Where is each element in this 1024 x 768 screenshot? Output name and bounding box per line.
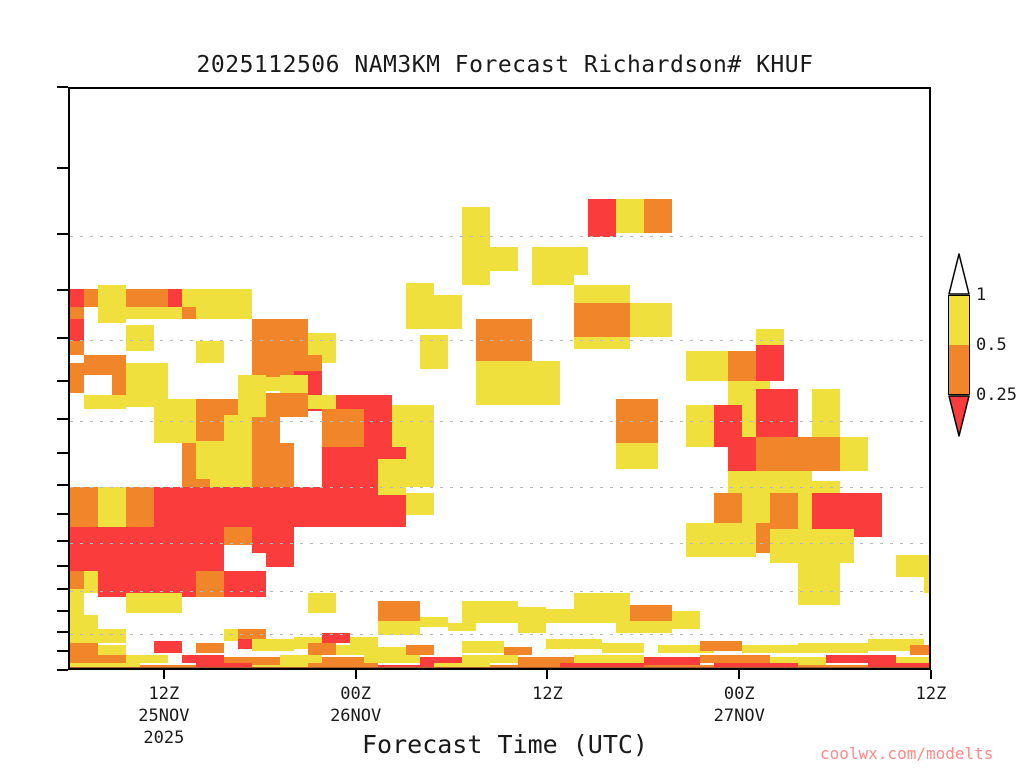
x-tick-label: 00Z27NOV — [714, 683, 765, 727]
y-tick-mark — [57, 631, 68, 633]
x-tick-label: 12Z — [916, 683, 947, 705]
x-tick-mark — [738, 670, 740, 679]
y-tick-mark — [57, 610, 68, 612]
x-tick-label: 12Z — [532, 683, 563, 705]
x-tick-time: 12Z — [916, 683, 947, 705]
y-tick-mark — [57, 233, 68, 235]
y-tick-mark — [57, 167, 68, 169]
x-tick-time: 12Z — [532, 683, 563, 705]
y-tick-mark — [57, 540, 68, 542]
y-tick-mark — [57, 452, 68, 454]
colorbar-over-arrow — [948, 253, 970, 295]
x-tick-label: 00Z26NOV — [330, 683, 381, 727]
colorbar-tick-label: 0.5 — [976, 335, 1007, 355]
y-tick-mark — [57, 565, 68, 567]
terrain-band — [70, 89, 929, 668]
chart-title: 2025112506 NAM3KM Forecast Richardson# K… — [0, 52, 1010, 78]
watermark: coolwx.com/modelts — [820, 744, 993, 763]
x-tick-mark — [546, 670, 548, 679]
y-tick-mark — [57, 669, 68, 671]
y-tick-mark — [57, 418, 68, 420]
colorbar-segment — [948, 345, 970, 395]
x-tick-date: 27NOV — [714, 705, 765, 727]
x-tick-date: 25NOV — [138, 705, 189, 727]
y-tick-mark — [57, 650, 68, 652]
colorbar-under-arrow — [948, 395, 970, 437]
y-tick-mark — [57, 513, 68, 515]
x-tick-mark — [355, 670, 357, 679]
plot-area — [68, 87, 931, 670]
y-tick-mark — [57, 588, 68, 590]
y-tick-mark — [57, 484, 68, 486]
x-tick-time: 12Z — [138, 683, 189, 705]
colorbar-tick-label: 1 — [976, 285, 986, 305]
y-tick-mark — [57, 380, 68, 382]
x-tick-time: 00Z — [714, 683, 765, 705]
terrain-fill — [70, 667, 929, 670]
colorbar-tick-label: 0.25 — [976, 385, 1017, 405]
colorbar-body — [948, 295, 970, 395]
y-tick-mark — [57, 86, 68, 88]
y-tick-mark — [57, 289, 68, 291]
x-tick-mark — [163, 670, 165, 679]
chart-canvas: 2025112506 NAM3KM Forecast Richardson# K… — [0, 0, 1024, 768]
x-tick-time: 00Z — [330, 683, 381, 705]
x-tick-date: 26NOV — [330, 705, 381, 727]
y-tick-mark — [57, 337, 68, 339]
x-tick-mark — [930, 670, 932, 679]
colorbar-segment — [948, 295, 970, 345]
